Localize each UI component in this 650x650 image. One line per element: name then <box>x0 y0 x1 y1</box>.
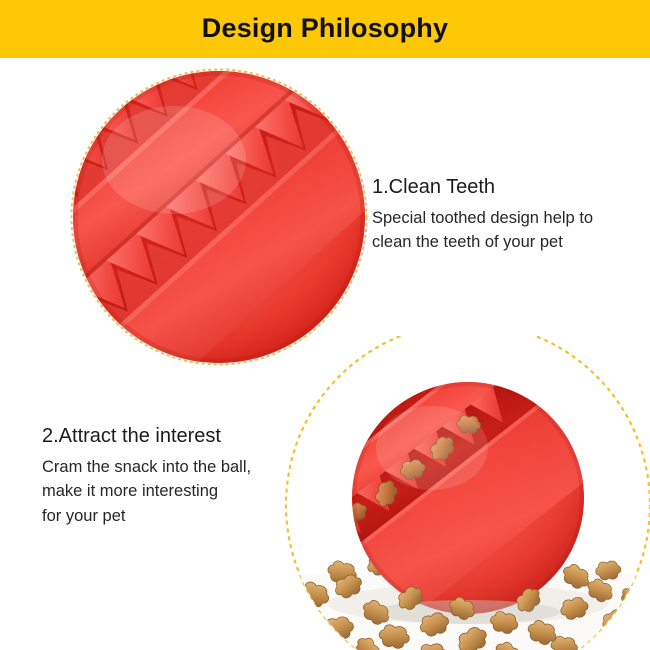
feature-2-body-line-1: Cram the snack into the ball, <box>42 455 251 480</box>
feature-2-body: Cram the snack into the ball, make it mo… <box>42 455 251 529</box>
header-banner: Design Philosophy <box>0 0 650 58</box>
feature-2-body-line-2: make it more interesting <box>42 479 251 504</box>
feature-2-body-line-3: for your pet <box>42 504 251 529</box>
feature-2-heading: 2.Attract the interest <box>42 425 251 449</box>
page-title: Design Philosophy <box>202 15 448 44</box>
feature-block-attract-interest: 2.Attract the interest Cram the snack in… <box>42 425 251 529</box>
bottom-ball-kibble-image <box>276 336 650 650</box>
ball-with-kibble-graphic <box>276 336 650 650</box>
top-ball-image <box>66 64 372 370</box>
feature-block-clean-teeth: 1.Clean Teeth Special toothed design hel… <box>372 176 593 255</box>
feature-1-body-line-1: Special toothed design help to <box>372 206 593 231</box>
feature-1-heading: 1.Clean Teeth <box>372 176 593 200</box>
feature-1-body-line-2: clean the teeth of your pet <box>372 230 593 255</box>
infographic-page: Design Philosophy <box>0 0 650 650</box>
feature-1-body: Special toothed design help to clean the… <box>372 206 593 256</box>
red-textured-ball-graphic <box>66 64 372 370</box>
